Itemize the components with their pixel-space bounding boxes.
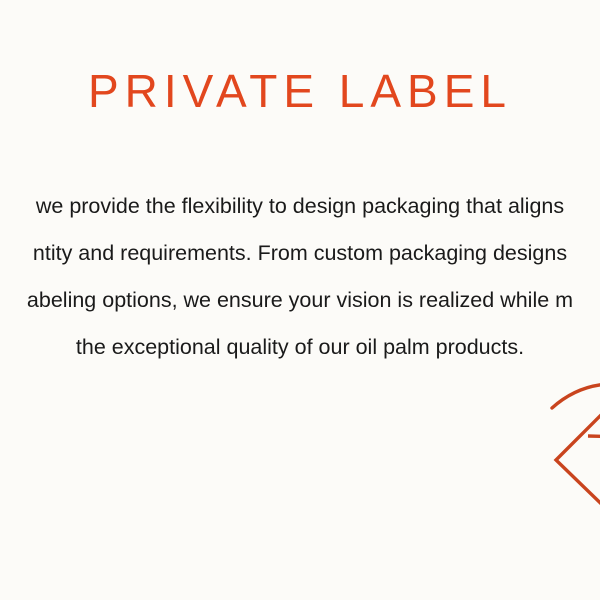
body-line-3: abeling options, we ensure your vision i… bbox=[0, 277, 600, 324]
body-paragraph: we provide the flexibility to design pac… bbox=[0, 183, 600, 371]
body-line-4: the exceptional quality of our oil palm … bbox=[0, 324, 600, 371]
ornament-diamond bbox=[556, 404, 600, 524]
body-line-1: we provide the flexibility to design pac… bbox=[0, 183, 600, 230]
slide-canvas: PRIVATE LABEL we provide the flexibility… bbox=[0, 0, 600, 600]
ornament-svg bbox=[548, 382, 600, 517]
body-line-2: ntity and requirements. From custom pack… bbox=[0, 230, 600, 277]
diamond-arc-ornament-icon bbox=[548, 382, 600, 517]
ornament-arc bbox=[552, 384, 600, 408]
ornament-inner-line bbox=[588, 436, 600, 438]
page-title: PRIVATE LABEL bbox=[0, 61, 600, 121]
